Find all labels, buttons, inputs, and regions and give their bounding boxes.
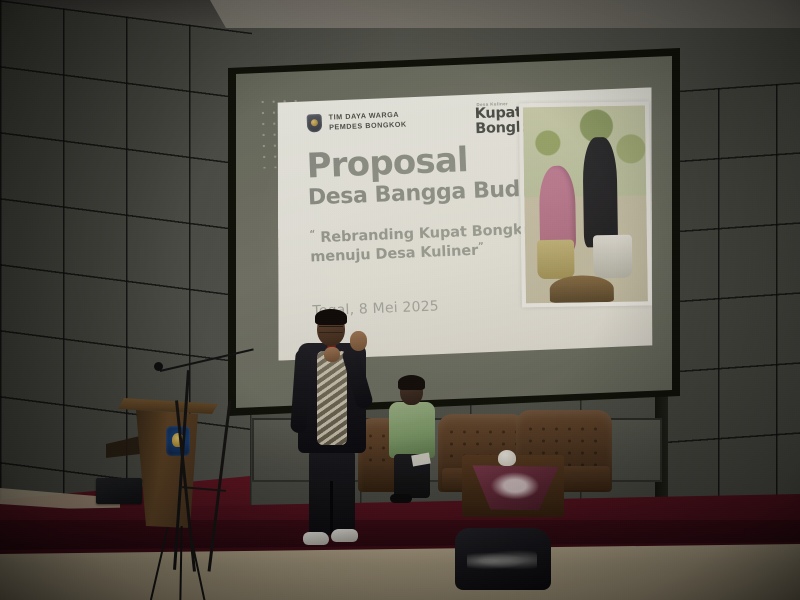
quote-line-2: menuju Desa Kuliner [310, 243, 478, 266]
quote-close-mark: ” [478, 242, 484, 252]
photo-bucket-white [593, 235, 633, 279]
seated-person-shoe [390, 494, 412, 503]
slide-title: Proposal [306, 143, 468, 183]
village-shield-icon [307, 113, 323, 132]
stage-monitor-speaker [96, 478, 142, 504]
backpack [455, 528, 551, 590]
photo-scene: TIM DAYA WARGA PEMDES BONGKOK Desa Kulin… [0, 0, 800, 600]
presenter-batik-pattern [317, 351, 347, 445]
photo-person-dark [582, 137, 618, 247]
slide-photo [519, 101, 652, 307]
mic-stand-boom [160, 348, 254, 372]
right-wall-panels [660, 82, 800, 512]
presenter [295, 313, 371, 553]
slide-org-name: TIM DAYA WARGA PEMDES BONGKOK [329, 110, 407, 132]
presenter-leg-gap [330, 481, 333, 535]
presenter-hand-holding-mic [324, 347, 340, 362]
secondary-stand-leg [208, 400, 232, 571]
presenter-hair [315, 309, 347, 325]
presenter-shoe-left [303, 532, 329, 545]
seated-person-shirt [389, 402, 435, 458]
photo-food-pile [550, 275, 614, 303]
secondary-stand [178, 400, 248, 580]
seated-person-hair [398, 375, 425, 390]
presenter-shoe-right [331, 529, 358, 542]
presenter-hand-raised [350, 331, 367, 351]
slide-brand-row: TIM DAYA WARGA PEMDES BONGKOK [307, 110, 407, 133]
table-vase [498, 450, 516, 466]
seated-person [386, 378, 438, 506]
quote-open-mark: “ [309, 229, 315, 239]
mic-capsule-icon [154, 362, 163, 371]
quote-line-1: Rebranding Kupat Bongkok [320, 221, 542, 246]
glasses-icon [319, 326, 343, 333]
photo-bucket-yellow [537, 240, 574, 280]
